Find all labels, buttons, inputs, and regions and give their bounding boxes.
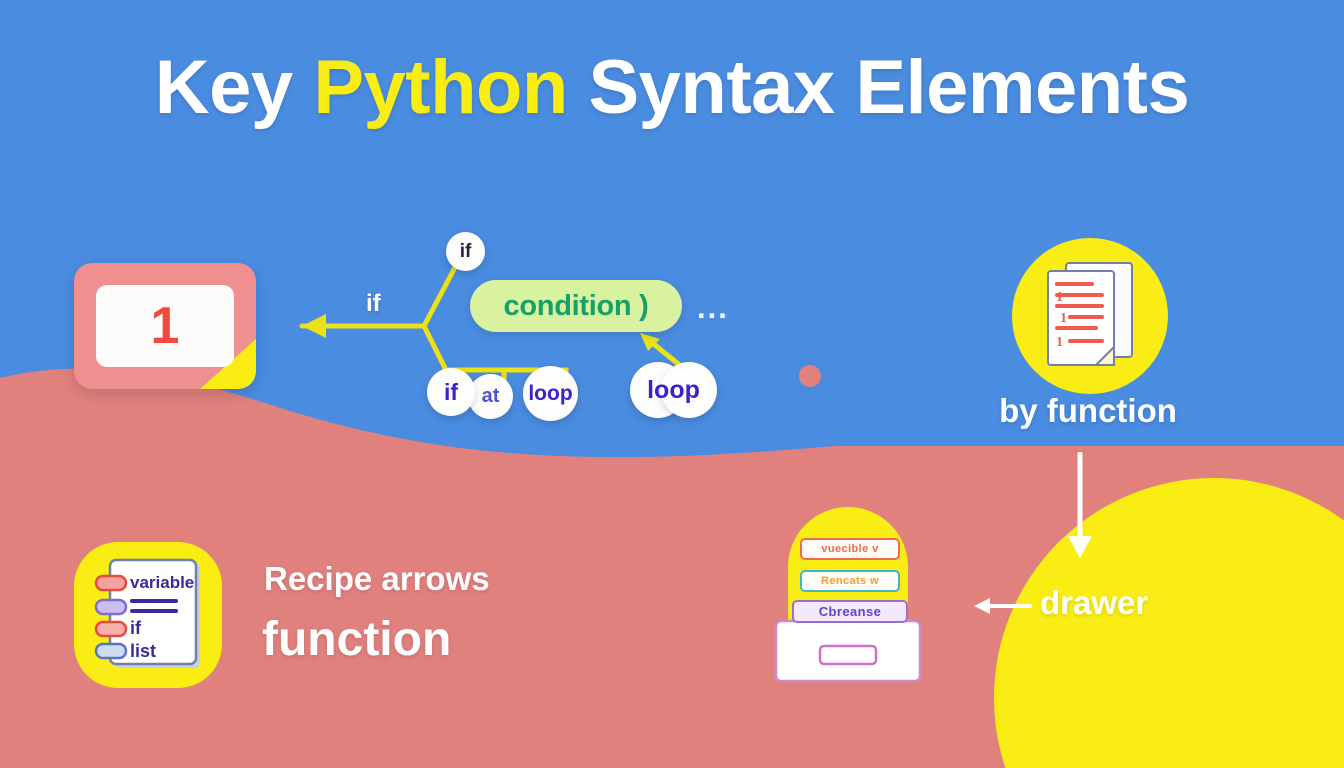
condition-pill-text: condition ) xyxy=(504,290,649,323)
badge-if-low[interactable]: if xyxy=(427,368,475,416)
svg-text:if: if xyxy=(130,618,142,638)
badge-loop-right[interactable]: loop xyxy=(630,362,717,418)
svg-text:variable: variable xyxy=(130,573,194,592)
badge-loop-low-text: loop xyxy=(528,382,572,406)
number-card-value: 1 xyxy=(151,300,180,352)
drawer-label-2[interactable]: Rencats w xyxy=(800,570,900,592)
drawer-illustration[interactable] xyxy=(770,505,926,683)
title-highlight-python: Python xyxy=(313,45,568,130)
decorative-dot xyxy=(799,365,821,387)
number-card: 1 xyxy=(74,263,256,389)
document-icon[interactable]: 1 1 1 xyxy=(1040,257,1144,377)
badge-loop-low[interactable]: loop xyxy=(523,366,578,421)
badge-if-top-text: if xyxy=(460,241,472,263)
badge-loop-right-text-label: loop xyxy=(647,376,700,405)
drawer-label-3[interactable]: Cbreanse xyxy=(792,600,908,623)
svg-text:1: 1 xyxy=(1060,311,1067,326)
title-part-2: Syntax Elements xyxy=(568,45,1189,130)
recipe-big-label: function xyxy=(262,612,451,667)
arrow-left-icon xyxy=(972,593,1032,619)
title-part-1: Key xyxy=(155,45,314,130)
arrow-down-icon xyxy=(1058,452,1102,564)
badge-if-top[interactable]: if xyxy=(446,232,485,271)
condition-pill[interactable]: condition ) xyxy=(470,280,682,332)
recipe-small-label: Recipe arrows xyxy=(264,560,490,598)
drawer-label-1[interactable]: vuecible v xyxy=(800,538,900,560)
svg-text:1: 1 xyxy=(1056,290,1063,305)
ellipsis-text: ... xyxy=(697,290,729,326)
document-caption: by function xyxy=(968,392,1208,430)
branch-label-if: if xyxy=(366,290,381,318)
infographic-canvas: Key Python Syntax Elements 1 if if condi… xyxy=(0,0,1344,768)
page-title: Key Python Syntax Elements xyxy=(0,44,1344,131)
notepad-icon[interactable]: variable if list xyxy=(92,556,208,676)
badge-at[interactable]: at xyxy=(468,374,513,419)
badge-if-low-text: if xyxy=(444,379,458,406)
number-card-inner: 1 xyxy=(96,285,234,367)
drawer-caption: drawer xyxy=(1040,584,1148,622)
svg-text:list: list xyxy=(130,641,156,661)
svg-text:1: 1 xyxy=(1056,335,1063,350)
badge-at-text: at xyxy=(482,385,500,408)
